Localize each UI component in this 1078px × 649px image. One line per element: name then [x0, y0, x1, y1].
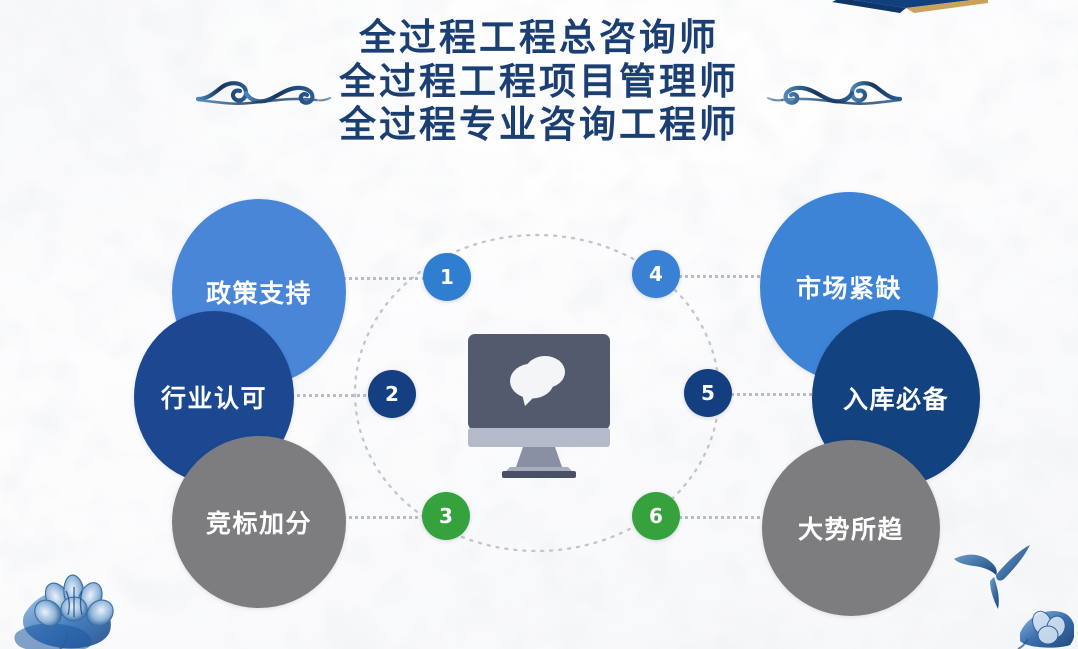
bubble-general-trend[interactable]: 大势所趋 — [762, 440, 940, 616]
title-line-1: 全过程工程总咨询师 — [0, 16, 1078, 60]
node-badge-5[interactable]: 5 — [684, 369, 732, 417]
node-number: 5 — [701, 381, 715, 405]
desktop-monitor-chat-icon — [466, 332, 612, 480]
bubble-label: 政策支持 — [206, 274, 312, 310]
node-badge-1[interactable]: 1 — [423, 253, 471, 301]
node-badge-3[interactable]: 3 — [422, 492, 470, 540]
bubble-label: 竞标加分 — [206, 504, 312, 540]
title-line-3: 全过程专业咨询工程师 — [0, 103, 1078, 147]
node-number: 4 — [649, 262, 663, 286]
slide-canvas: 全过程工程总咨询师 全过程工程项目管理师 全过程专业咨询工程师 — [0, 0, 1078, 649]
node-badge-6[interactable]: 6 — [632, 492, 680, 540]
node-number: 1 — [440, 265, 454, 289]
bubble-bidding-bonus[interactable]: 竞标加分 — [172, 436, 346, 608]
bubble-label: 大势所趋 — [798, 510, 904, 546]
bubble-label: 入库必备 — [843, 380, 949, 416]
bubble-label: 市场紧缺 — [796, 269, 902, 305]
connector-5 — [730, 393, 820, 396]
node-number: 6 — [649, 504, 663, 528]
node-badge-2[interactable]: 2 — [368, 370, 416, 418]
bubble-label: 行业认可 — [161, 379, 267, 415]
node-number: 2 — [385, 382, 399, 406]
connector-6 — [678, 516, 774, 519]
node-number: 3 — [439, 504, 453, 528]
title-line-2: 全过程工程项目管理师 — [0, 60, 1078, 104]
page-title: 全过程工程总咨询师 全过程工程项目管理师 全过程专业咨询工程师 — [0, 16, 1078, 147]
connector-2 — [290, 394, 372, 397]
node-badge-4[interactable]: 4 — [632, 250, 680, 298]
